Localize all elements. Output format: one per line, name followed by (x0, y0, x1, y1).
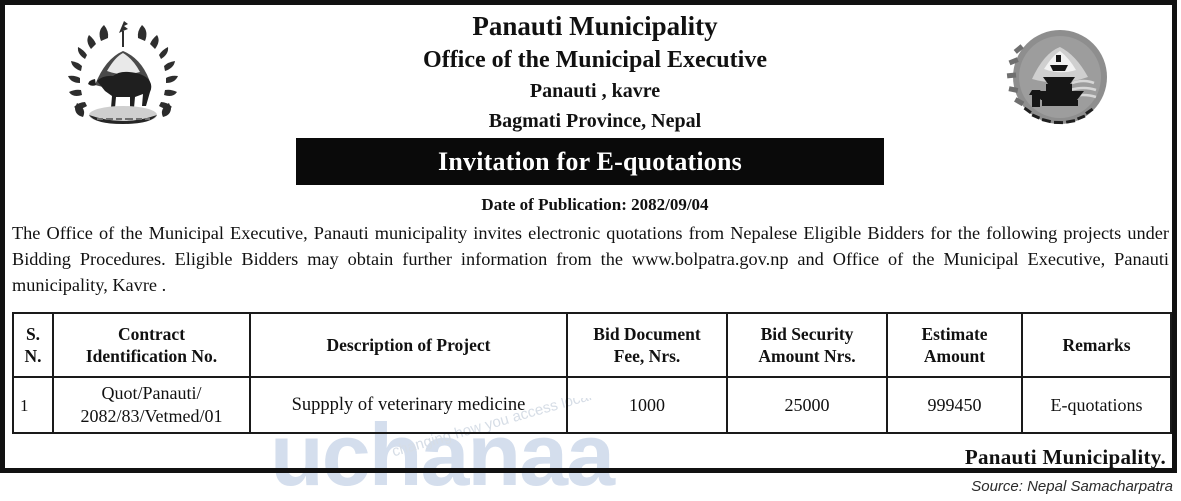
cell-contract-id: Quot/Panauti/ 2082/83/Vetmed/01 (53, 377, 250, 433)
column-header-estimate-amount: Estimate Amount (887, 313, 1022, 377)
column-header-bid-security-amount-line1: Bid Security (732, 323, 882, 345)
column-header-serial-number-line2: N. (18, 345, 48, 367)
notice-title-banner: Invitation for E-quotations (296, 138, 884, 185)
column-header-bid-document-fee-line1: Bid Document (572, 323, 722, 345)
office-name: Office of the Municipal Executive (245, 44, 945, 77)
column-header-contract-id: Contract Identification No. (53, 313, 250, 377)
signature-line: Panauti Municipality. (12, 445, 1170, 470)
column-header-bid-security-amount: Bid Security Amount Nrs. (727, 313, 887, 377)
projects-table: S. N. Contract Identification No. Descri… (12, 312, 1172, 434)
cell-remarks: E-quotations (1022, 377, 1171, 433)
column-header-remarks: Remarks (1022, 313, 1171, 377)
column-header-contract-id-line1: Contract (58, 323, 245, 345)
cell-bid-security-amount: 25000 (727, 377, 887, 433)
office-province: Bagmati Province, Nepal (245, 106, 945, 136)
source-credit: Source: Nepal Samacharpatra (0, 478, 1177, 495)
column-header-bid-document-fee: Bid Document Fee, Nrs. (567, 313, 727, 377)
column-header-serial-number: S. N. (13, 313, 53, 377)
cell-contract-id-line1: Quot/Panauti/ (58, 382, 245, 405)
panauti-municipality-seal-icon (998, 25, 1122, 133)
column-header-bid-security-amount-line2: Amount Nrs. (732, 345, 882, 367)
notice-page: uchanaa changing how you access local ne… (0, 0, 1181, 501)
column-header-contract-id-line2: Identification No. (58, 345, 245, 367)
cell-serial-number: 1 (13, 377, 53, 433)
column-header-estimate-amount-line2: Amount (892, 345, 1017, 367)
cell-estimate-amount: 999450 (887, 377, 1022, 433)
notice-title-text: Invitation for E-quotations (438, 147, 742, 177)
organization-name: Panauti Municipality (245, 9, 945, 44)
cell-bid-document-fee: 1000 (567, 377, 727, 433)
projects-table-wrapper: S. N. Contract Identification No. Descri… (12, 312, 1170, 434)
document-heading-block: Panauti Municipality Office of the Munic… (245, 9, 945, 136)
office-location: Panauti , kavre (245, 77, 945, 106)
cell-description: Suppply of veterinary medicine (250, 377, 567, 433)
table-row: 1 Quot/Panauti/ 2082/83/Vetmed/01 Supppl… (13, 377, 1171, 433)
notice-body-paragraph: The Office of the Municipal Executive, P… (12, 220, 1169, 298)
cell-contract-id-line2: 2082/83/Vetmed/01 (58, 405, 245, 428)
column-header-estimate-amount-line1: Estimate (892, 323, 1017, 345)
column-header-description: Description of Project (250, 313, 567, 377)
notice-content: Panauti Municipality Office of the Munic… (5, 5, 1172, 468)
nepal-government-emblem-icon (61, 15, 185, 133)
column-header-bid-document-fee-line2: Fee, Nrs. (572, 345, 722, 367)
column-header-serial-number-line1: S. (18, 323, 48, 345)
publication-date: Date of Publication: 2082/09/04 (245, 195, 945, 215)
table-header-row: S. N. Contract Identification No. Descri… (13, 313, 1171, 377)
